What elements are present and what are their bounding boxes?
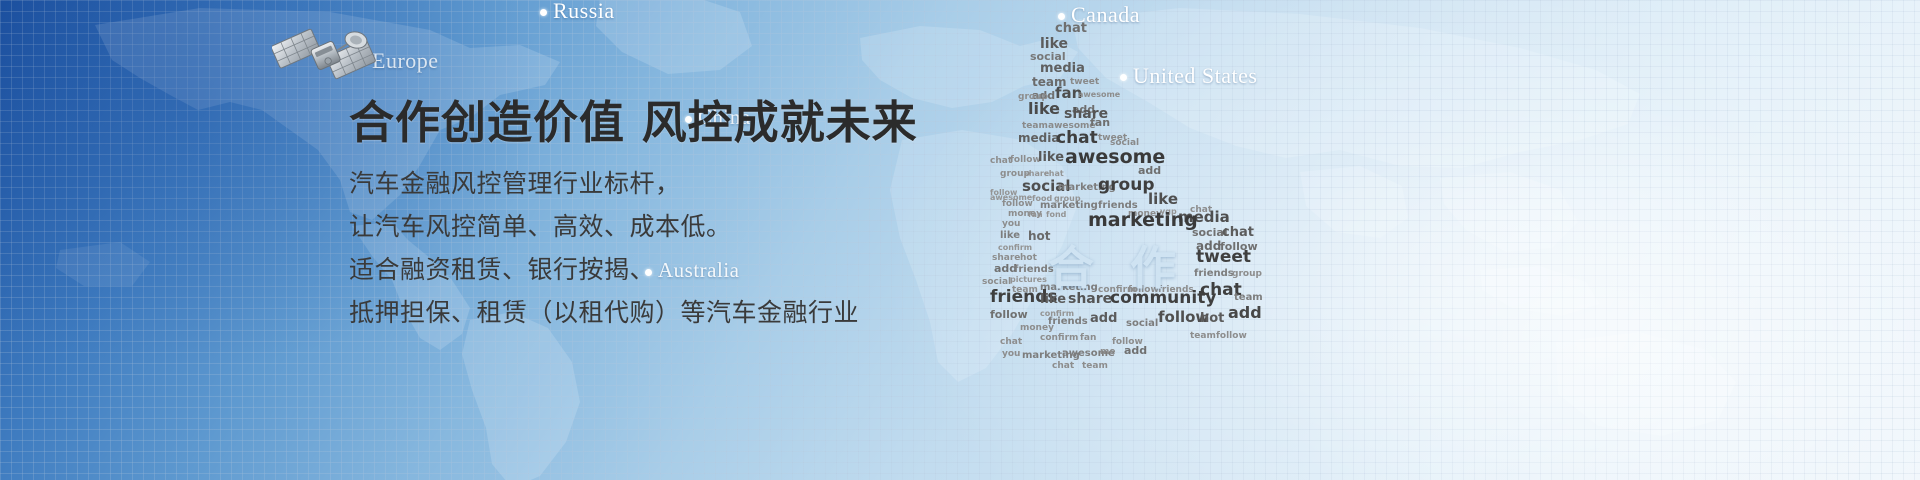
cloud-word: media [1018, 131, 1059, 145]
cloud-word: confirm [998, 243, 1032, 252]
cloud-word: marketing [1088, 209, 1198, 231]
map-dot-icon [540, 9, 547, 16]
cloud-word: like [1028, 99, 1060, 118]
cloud-word: like [1038, 150, 1064, 165]
cloud-word: follow [990, 308, 1028, 321]
cloud-word: me [1100, 347, 1115, 357]
cloud-word: fan [1028, 210, 1043, 219]
cloud-word: team [1234, 292, 1263, 303]
satellite-icon [272, 18, 382, 96]
cloud-word: group [1098, 175, 1155, 195]
banner-copy: 合作创造价值 风控成就未来 汽车金融风控管理行业标杆， 让汽车风控简单、高效、成… [349, 98, 969, 334]
cloud-word: like [1148, 190, 1178, 208]
cloud-word: add [1228, 303, 1262, 322]
cloud-word: awesome [990, 193, 1033, 202]
cloud-word: add [1090, 311, 1117, 326]
cloud-word: chat [1000, 337, 1023, 347]
cloud-word: share [1064, 106, 1108, 122]
cloud-word: fond [1046, 210, 1067, 219]
cloud-word: team [1190, 331, 1216, 341]
cloud-word: social [982, 277, 1011, 287]
banner-headline: 合作创造价值 风控成就未来 [349, 98, 969, 148]
cloud-word: chat [1052, 361, 1075, 371]
cloud-word: fan [1080, 333, 1096, 343]
cloud-word: you [1002, 349, 1020, 359]
cloud-word: friends [1048, 316, 1088, 327]
banner-subline-2: 让汽车风控简单、高效、成本低。 [349, 205, 969, 248]
cloud-word: group [1232, 269, 1262, 279]
banner-subline-1: 汽车金融风控管理行业标杆， [349, 162, 969, 205]
cloud-word: confirm [1040, 333, 1078, 343]
cloud-word: social [1126, 318, 1158, 329]
cloud-word: follow [1216, 331, 1247, 341]
hero-banner: Russia Europe China Canada United States… [0, 0, 1920, 480]
map-label-russia-text: Russia [553, 0, 615, 23]
cloud-word: team [1082, 361, 1108, 371]
map-label-russia: Russia [540, 0, 615, 24]
cloud-word: hot [1200, 311, 1224, 326]
cloud-word: tweet [1196, 247, 1251, 267]
cloud-word: add [1124, 344, 1147, 357]
cloud-word: chat [1055, 21, 1087, 36]
cooperation-overlay-text: 合 作 [1048, 232, 1186, 298]
cloud-word: chat [1222, 225, 1254, 240]
cloud-word: chat [1056, 128, 1098, 148]
cloud-word: awesome [1078, 90, 1121, 99]
cloud-word: media [1040, 61, 1085, 76]
cloud-word: like [1000, 230, 1020, 241]
banner-subline-3: 适合融资租赁、银行按揭、 [349, 248, 969, 291]
cloud-word: you [1002, 219, 1020, 229]
banner-subline-4: 抵押担保、租赁（以租代购）等汽车金融行业 [349, 291, 969, 334]
cloud-word: pictures [1010, 275, 1047, 284]
banner-subline-list: 汽车金融风控管理行业标杆， 让汽车风控简单、高效、成本低。 适合融资租赁、银行按… [349, 162, 969, 334]
cloud-word: follow [1010, 155, 1041, 165]
cloud-word: friends [1194, 268, 1234, 279]
cloud-word: team [1022, 121, 1048, 131]
cloud-word: hot [1020, 253, 1038, 263]
